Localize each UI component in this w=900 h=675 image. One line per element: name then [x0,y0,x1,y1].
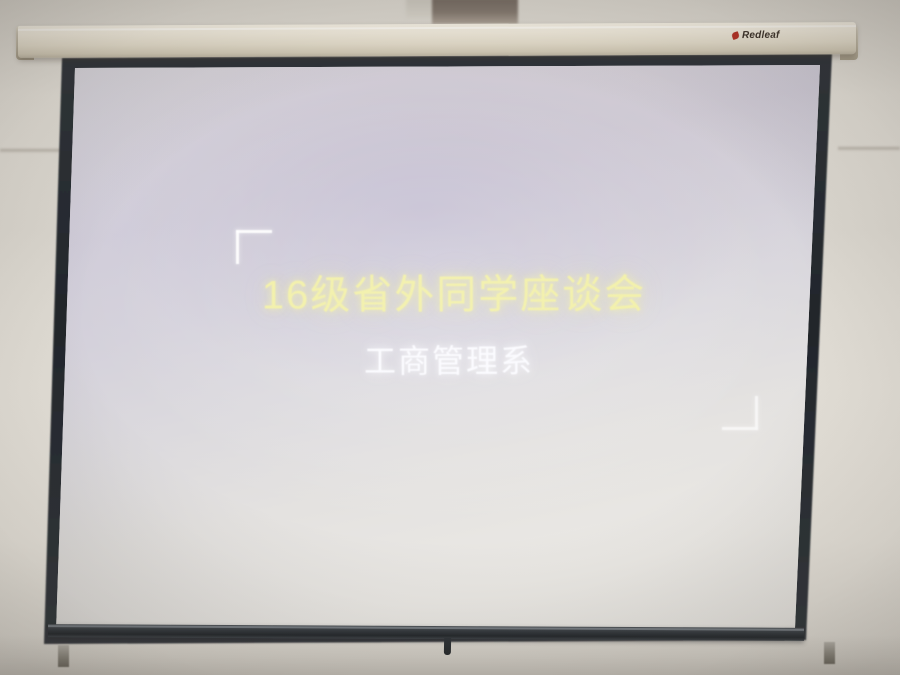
ceiling-recess-shadow [432,0,518,24]
wall-seam-left [0,148,72,153]
brand-logo: Redleaf [732,30,780,41]
brand-name: Redleaf [742,30,780,41]
wall-seam-right [838,146,900,151]
lower-wall-shadow [0,635,900,675]
projector-screen-photo: 16级省外同学座谈会 工商管理系 Redleaf [0,0,900,675]
slide-edge-falloff [0,0,900,675]
screen-roller-casing [18,22,856,58]
red-leaf-icon [731,31,740,40]
projected-slide: 16级省外同学座谈会 工商管理系 [0,0,900,675]
